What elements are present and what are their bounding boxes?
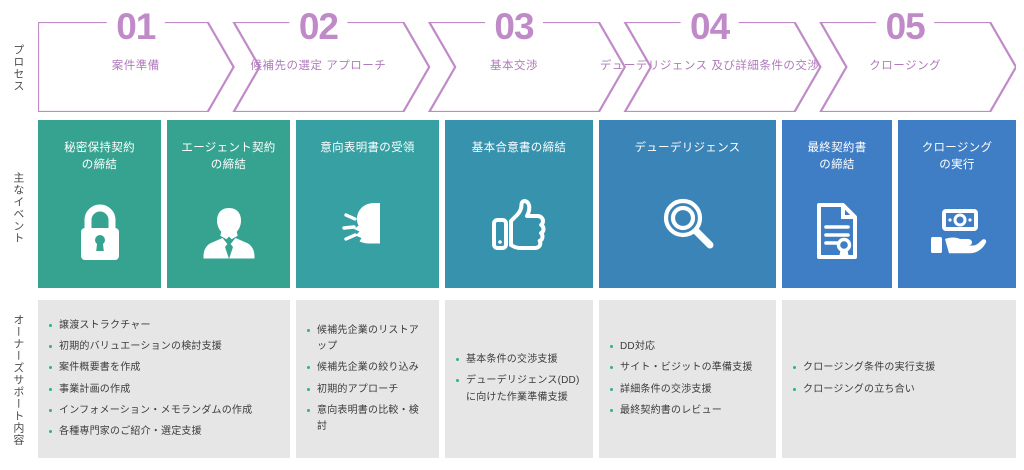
lock-icon xyxy=(64,195,136,267)
support-block-2: 候補先企業のリストアップ候補先企業の絞り込み初期的アプローチ意向表明書の比較・検… xyxy=(296,300,439,458)
support-item: 譲渡ストラクチャー xyxy=(48,318,280,334)
support-item-text: デューデリジェンス(DD)に向けた作業準備支援 xyxy=(466,375,580,402)
event-card-1[interactable]: 秘密保持契約 の締結 xyxy=(38,120,161,288)
event-card-3[interactable]: 意向表明書の受領 xyxy=(296,120,439,288)
support-item: 候補先企業のリストアップ xyxy=(306,323,429,355)
process-step-number-01: 01 xyxy=(116,8,155,45)
support-item: 各種専門家のご紹介・選定支援 xyxy=(48,424,280,440)
row-label-support: オーナーズサポート内容 xyxy=(0,300,34,460)
bullet-icon xyxy=(610,345,613,348)
support-item-text: インフォメーション・メモランダムの作成 xyxy=(59,405,252,416)
support-item: 基本条件の交渉支援 xyxy=(455,352,583,368)
row-label-support-text: オーナーズサポート内容 xyxy=(10,314,24,446)
bullet-icon xyxy=(793,366,796,369)
bullet-icon xyxy=(307,329,310,332)
money-hand-icon xyxy=(921,195,993,267)
event-card-title-7: クロージング の実行 xyxy=(922,140,993,175)
process-step-label-04: デューデリジェンス 及び詳細条件の交渉 xyxy=(600,58,819,75)
row-label-process: プロセス xyxy=(0,28,34,108)
bullet-icon xyxy=(610,409,613,412)
event-card-title-3: 意向表明書の受領 xyxy=(320,140,414,157)
process-step-label-02: 候補先の選定 アプローチ xyxy=(251,58,387,75)
support-blocks-row: 譲渡ストラクチャー初期的バリュエーションの検討支援案件概要書を作成事業計画の作成… xyxy=(38,300,1016,458)
certificate-icon xyxy=(801,195,873,267)
row-label-events: 主なイベント xyxy=(0,128,34,288)
speaking-head-icon xyxy=(332,187,404,259)
event-card-4[interactable]: 基本合意書の締結 xyxy=(445,120,593,288)
support-item-text: クロージング条件の実行支援 xyxy=(803,362,935,373)
support-item-text: 案件概要書を作成 xyxy=(59,362,141,373)
support-item: 候補先企業の絞り込み xyxy=(306,360,429,376)
bullet-icon xyxy=(49,430,52,433)
process-step-number-05: 05 xyxy=(886,8,925,45)
support-item: クロージングの立ち合い xyxy=(792,382,1006,398)
support-block-4: DD対応サイト・ビジットの準備支援詳細条件の交渉支援最終契約書のレビュー xyxy=(599,300,776,458)
support-item: サイト・ビジットの準備支援 xyxy=(609,360,766,376)
event-card-7[interactable]: クロージング の実行 xyxy=(898,120,1016,288)
support-item-text: 事業計画の作成 xyxy=(59,384,130,395)
event-card-icon-wrap-3 xyxy=(296,157,439,288)
bullet-icon xyxy=(307,409,310,412)
support-item: 最終契約書のレビュー xyxy=(609,403,766,419)
bullet-icon xyxy=(49,366,52,369)
magnifier-icon xyxy=(652,187,724,259)
process-chevron-band: 01案件準備02候補先の選定 アプローチ03基本交渉04デューデリジェンス 及び… xyxy=(38,22,1016,112)
process-step-number-03: 03 xyxy=(494,8,533,45)
support-item-text: 初期的アプローチ xyxy=(317,384,399,395)
event-cards-row: 秘密保持契約 の締結エージェント契約 の締結意向表明書の受領基本合意書の締結デュ… xyxy=(38,120,1016,288)
event-card-icon-wrap-6 xyxy=(782,175,892,289)
event-card-5[interactable]: デューデリジェンス xyxy=(599,120,776,288)
process-step-number-04: 04 xyxy=(690,8,729,45)
support-item-text: 初期的バリュエーションの検討支援 xyxy=(59,341,222,352)
event-card-title-6: 最終契約書 の締結 xyxy=(808,140,867,175)
event-card-icon-wrap-5 xyxy=(599,157,776,288)
support-item-text: DD対応 xyxy=(620,341,655,352)
process-step-label-03: 基本交渉 xyxy=(490,58,538,75)
support-item-text: 意向表明書の比較・検討 xyxy=(317,405,419,432)
support-block-1: 譲渡ストラクチャー初期的バリュエーションの検討支援案件概要書を作成事業計画の作成… xyxy=(38,300,290,458)
support-item-text: サイト・ビジットの準備支援 xyxy=(620,362,753,373)
bullet-icon xyxy=(307,366,310,369)
support-item: 詳細条件の交渉支援 xyxy=(609,382,766,398)
process-step-label-01: 案件準備 xyxy=(112,58,160,75)
bullet-icon xyxy=(49,388,52,391)
event-card-title-5: デューデリジェンス xyxy=(635,140,741,157)
event-card-icon-wrap-1 xyxy=(38,175,161,289)
bullet-icon xyxy=(49,409,52,412)
support-item: クロージング条件の実行支援 xyxy=(792,360,1006,376)
support-item-text: 各種専門家のご紹介・選定支援 xyxy=(59,426,202,437)
event-card-icon-wrap-2 xyxy=(167,175,290,289)
process-step-number-02: 02 xyxy=(299,8,338,45)
bullet-icon xyxy=(456,358,459,361)
event-card-title-2: エージェント契約 の締結 xyxy=(181,140,275,175)
process-step-label-05: クロージング xyxy=(869,58,941,75)
support-item: 意向表明書の比較・検討 xyxy=(306,403,429,435)
event-card-title-4: 基本合意書の締結 xyxy=(472,140,566,157)
row-label-process-text: プロセス xyxy=(10,44,24,92)
support-item: 案件概要書を作成 xyxy=(48,360,280,376)
event-card-icon-wrap-7 xyxy=(898,175,1016,289)
event-card-icon-wrap-4 xyxy=(445,157,593,288)
process-flow-diagram: プロセス 主なイベント オーナーズサポート内容 01案件準備02候補先の選定 ア… xyxy=(0,0,1024,470)
support-item: 初期的バリュエーションの検討支援 xyxy=(48,339,280,355)
bullet-icon xyxy=(49,324,52,327)
event-card-6[interactable]: 最終契約書 の締結 xyxy=(782,120,892,288)
bullet-icon xyxy=(610,388,613,391)
support-item: DD対応 xyxy=(609,339,766,355)
thumbs-up-icon xyxy=(483,187,555,259)
bullet-icon xyxy=(793,388,796,391)
support-item: 初期的アプローチ xyxy=(306,382,429,398)
support-item: デューデリジェンス(DD)に向けた作業準備支援 xyxy=(455,373,583,405)
event-card-title-1: 秘密保持契約 の締結 xyxy=(64,140,135,175)
bullet-icon xyxy=(610,366,613,369)
bullet-icon xyxy=(49,345,52,348)
support-item-text: 基本条件の交渉支援 xyxy=(466,354,558,365)
support-item: 事業計画の作成 xyxy=(48,382,280,398)
bullet-icon xyxy=(307,388,310,391)
person-icon xyxy=(193,195,265,267)
support-item-text: 詳細条件の交渉支援 xyxy=(620,384,712,395)
support-item-text: 最終契約書のレビュー xyxy=(620,405,722,416)
support-item-text: 候補先企業のリストアップ xyxy=(317,325,419,352)
support-block-3: 基本条件の交渉支援デューデリジェンス(DD)に向けた作業準備支援 xyxy=(445,300,593,458)
support-item-text: 譲渡ストラクチャー xyxy=(59,320,151,331)
support-block-5: クロージング条件の実行支援クロージングの立ち合い xyxy=(782,300,1016,458)
support-item: インフォメーション・メモランダムの作成 xyxy=(48,403,280,419)
support-item-text: クロージングの立ち合い xyxy=(803,384,915,395)
row-label-events-text: 主なイベント xyxy=(10,172,24,244)
event-card-2[interactable]: エージェント契約 の締結 xyxy=(167,120,290,288)
bullet-icon xyxy=(456,379,459,382)
support-item-text: 候補先企業の絞り込み xyxy=(317,362,419,373)
